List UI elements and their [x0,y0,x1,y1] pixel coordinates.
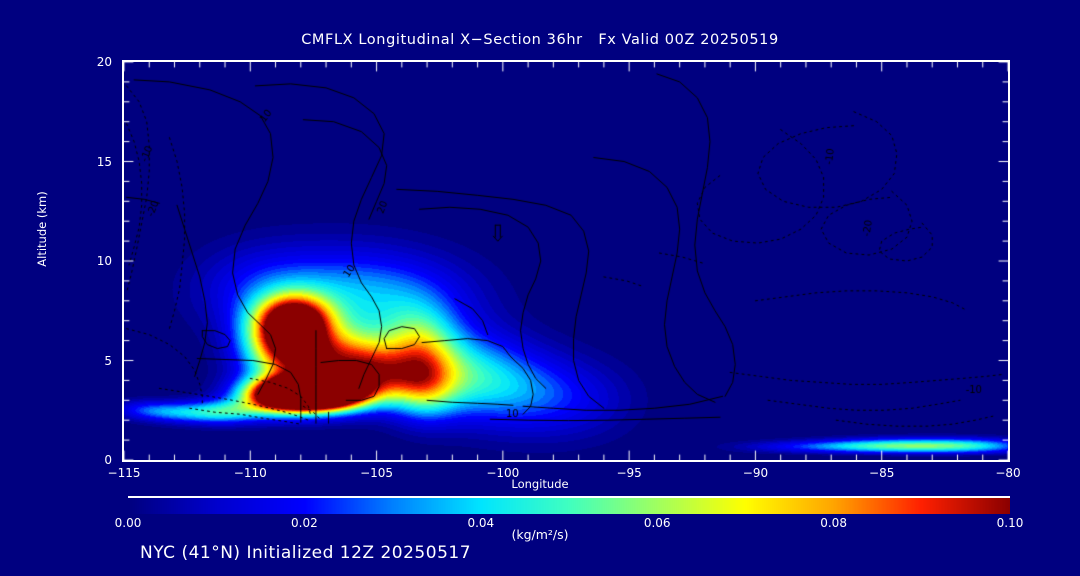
x-axis-title: Longitude [0,477,1080,491]
colorbar-gradient [128,498,1010,514]
footer-label: NYC (41°N) Initialized 12Z 20250517 [140,543,471,563]
y-tick-label: 0 [80,453,112,467]
heatmap-canvas [124,62,1008,460]
plot-frame [122,60,1010,462]
x-tick-label: −110 [234,466,267,480]
colorbar [128,496,1010,514]
y-tick-label: 10 [80,254,112,268]
x-tick-label: −105 [360,466,393,480]
y-tick-label: 15 [80,155,112,169]
y-tick-label: 20 [80,55,112,69]
x-tick-label: −115 [108,466,141,480]
x-tick-label: −95 [616,466,641,480]
x-tick-label: −90 [743,466,768,480]
x-tick-label: −85 [869,466,894,480]
chart-title: CMFLX Longitudinal X−Section 36hr Fx Val… [0,32,1080,48]
y-tick-label: 5 [80,354,112,368]
colorbar-units-label: (kg/m²/s) [0,527,1080,542]
chart-root: CMFLX Longitudinal X−Section 36hr Fx Val… [0,0,1080,576]
x-tick-label: −80 [995,466,1020,480]
x-tick-label: −100 [486,466,519,480]
y-axis-title: Altitude (km) [35,169,49,289]
